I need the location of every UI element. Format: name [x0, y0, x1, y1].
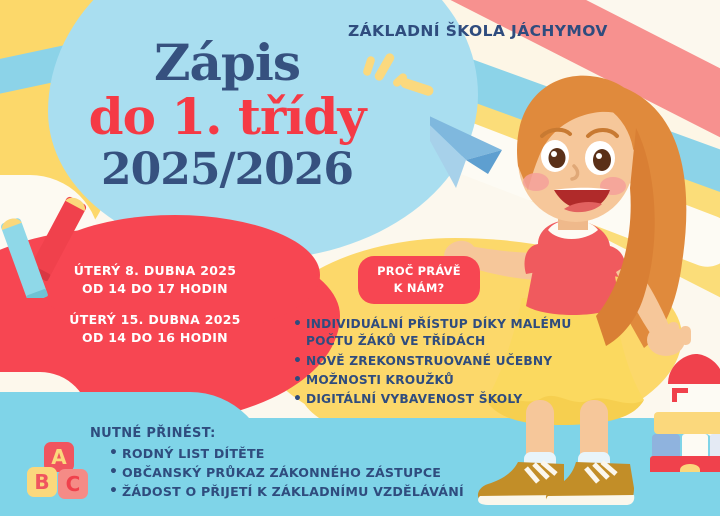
- paper-airplane-icon: [430, 108, 502, 188]
- toy-block-castle: [648, 352, 720, 472]
- date-2: ÚTERÝ 15. DUBNA 2025: [40, 311, 270, 329]
- why-us-item: NOVĚ ZREKONSTRUOVANÉ UČEBNY: [306, 353, 616, 370]
- bring-item: RODNÝ LIST DÍTĚTE: [122, 444, 542, 463]
- why-us-item: MOŽNOSTI KROUŽKŮ: [306, 372, 616, 389]
- time-1: OD 14 DO 17 HODIN: [40, 280, 270, 298]
- date-1: ÚTERÝ 8. DUBNA 2025: [40, 262, 270, 280]
- title-line-1: Zápis: [62, 38, 392, 88]
- time-2: OD 14 DO 16 HODIN: [40, 329, 270, 347]
- abc-block-b-letter: B: [34, 470, 49, 494]
- title-line-3: 2025/2026: [62, 148, 392, 192]
- bring-list: RODNÝ LIST DÍTĚTE OBČANSKÝ PRŮKAZ ZÁKONN…: [108, 444, 542, 501]
- abc-block-c-letter: C: [66, 472, 81, 496]
- enrollment-dates: ÚTERÝ 8. DUBNA 2025 OD 14 DO 17 HODIN ÚT…: [40, 262, 270, 348]
- abc-block-a-letter: A: [51, 445, 66, 469]
- why-us-badge-line-1: PROČ PRÁVĚ: [358, 263, 480, 280]
- abc-block-b: B: [27, 467, 57, 497]
- background-cream-bottom-left: [0, 372, 90, 442]
- bring-item: OBČANSKÝ PRŮKAZ ZÁKONNÉHO ZÁSTUPCE: [122, 463, 542, 482]
- bring-heading: NUTNÉ PŘINÉST:: [90, 426, 216, 441]
- bring-item: ŽÁDOST O PŘIJETÍ K ZÁKLADNÍMU VZDĚLÁVÁNÍ: [122, 482, 542, 501]
- castle-yellow-bar: [654, 412, 720, 434]
- abc-block-c: C: [58, 469, 88, 499]
- why-us-badge-line-2: K NÁM?: [358, 280, 480, 297]
- why-us-item: INDIVIDUÁLNÍ PŘÍSTUP DÍKY MALÉMU POČTU Ž…: [306, 316, 616, 351]
- castle-dome: [668, 354, 720, 384]
- why-us-list: INDIVIDUÁLNÍ PŘÍSTUP DÍKY MALÉMU POČTU Ž…: [292, 316, 616, 411]
- poster-canvas: A B C ZÁKLADNÍ ŠKOLA JÁCHYMOV Zápis do 1…: [0, 0, 720, 516]
- why-us-item: DIGITÁLNÍ VYBAVENOST ŠKOLY: [306, 391, 616, 408]
- why-us-badge: PROČ PRÁVĚ K NÁM?: [358, 256, 480, 304]
- title-line-2: do 1. třídy: [62, 92, 392, 142]
- page-title: Zápis do 1. třídy 2025/2026: [62, 38, 392, 192]
